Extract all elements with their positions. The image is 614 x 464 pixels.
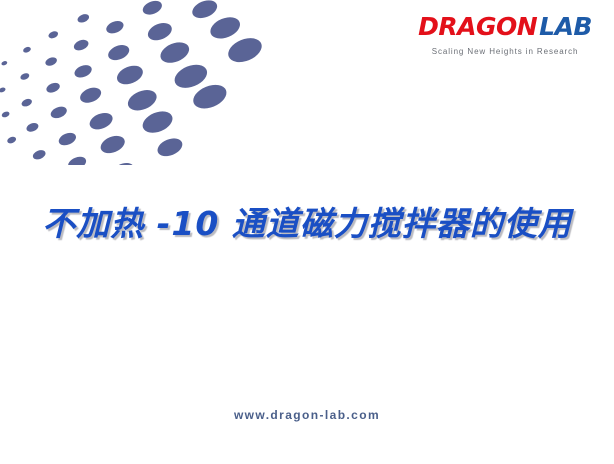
logo-tagline: Scaling New Heights in Research bbox=[418, 48, 592, 56]
logo-text-dragon: DRAGON bbox=[418, 12, 537, 41]
logo-wordmark: DRAGONLAB bbox=[418, 14, 592, 39]
slide-title: 不加热 -10 通道磁力搅拌器的使用 bbox=[0, 197, 614, 245]
halftone-dot-pattern bbox=[0, 0, 300, 165]
dragon-lab-logo: DRAGONLAB Scaling New Heights in Researc… bbox=[418, 14, 592, 56]
footer-website-url: www.dragon-lab.com bbox=[0, 408, 614, 422]
logo-text-lab: LAB bbox=[539, 12, 592, 41]
presentation-slide: DRAGONLAB Scaling New Heights in Researc… bbox=[0, 0, 614, 464]
